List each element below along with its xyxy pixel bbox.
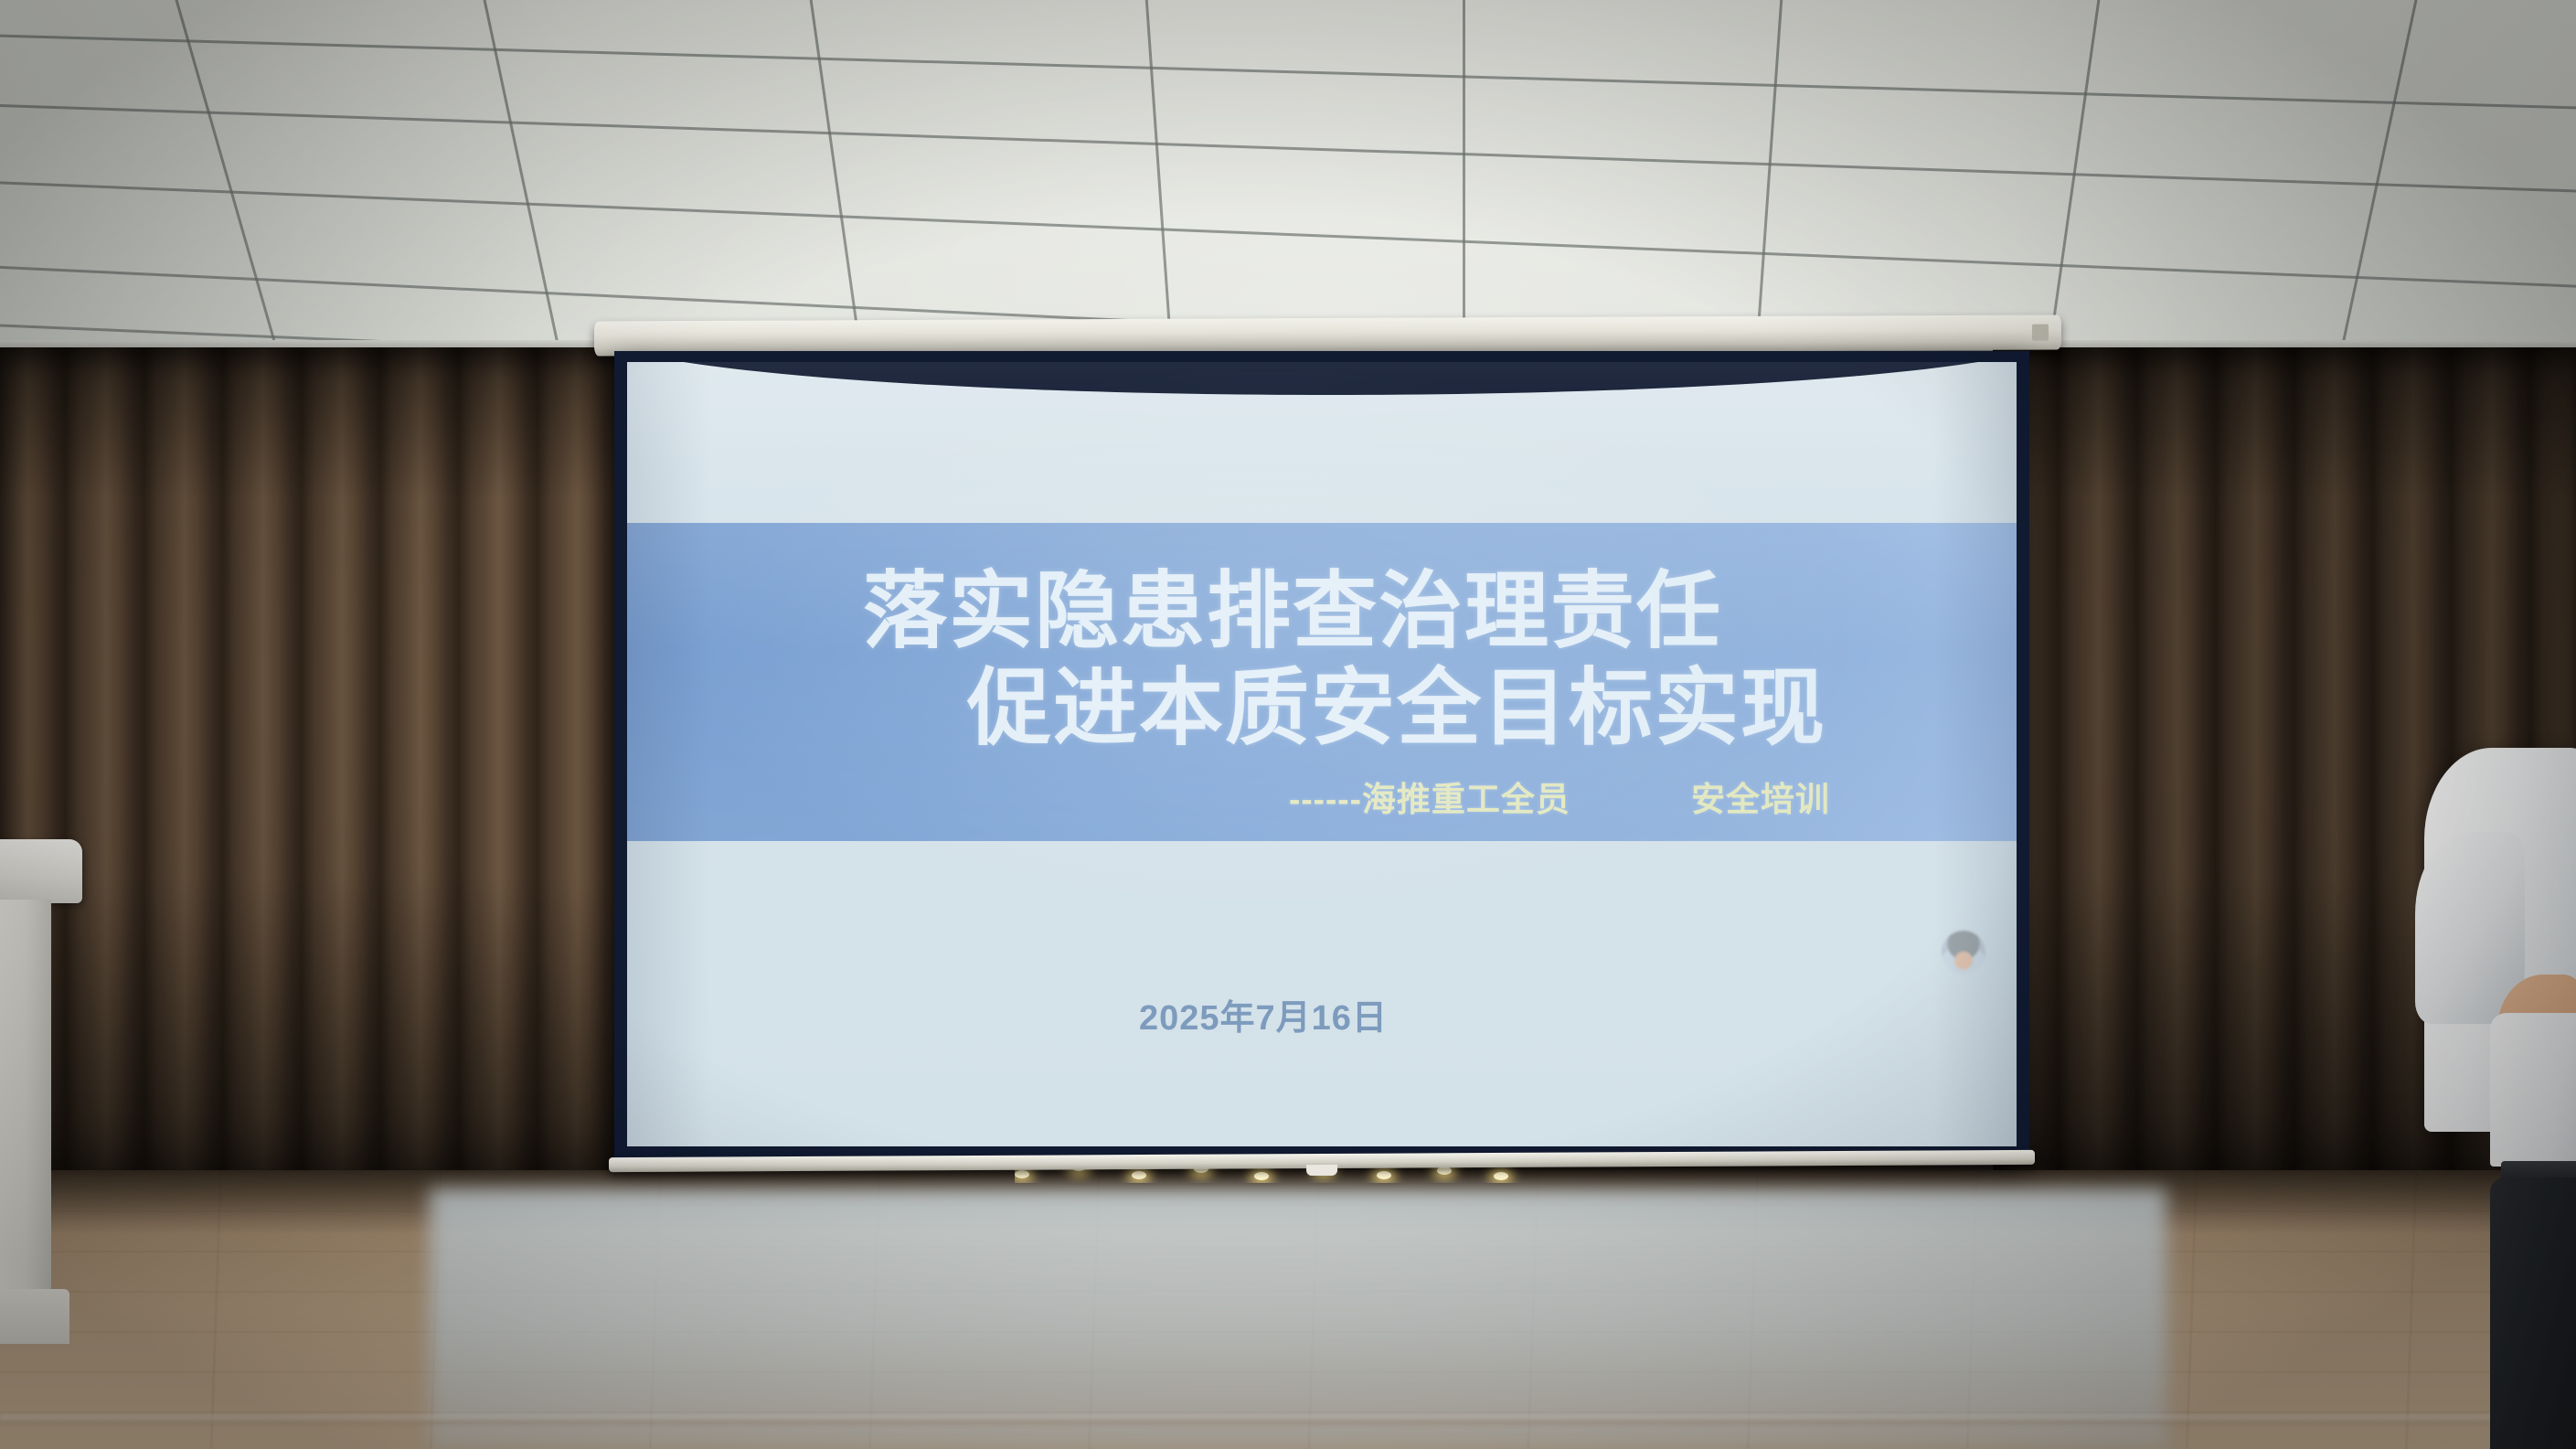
slide-date: 2025年7月16日 (1139, 989, 1388, 1039)
housing-endcap (2032, 325, 2049, 341)
projector-screen-housing[interactable] (594, 314, 2061, 356)
projector-light-spill (430, 1188, 2166, 1449)
slide-subtitle-right: 安全培训 (1691, 772, 1830, 821)
ceiling (0, 0, 2576, 366)
curtain-left (0, 347, 640, 1198)
screen-pull-knob[interactable] (1306, 1165, 1337, 1176)
ceiling-grid-line (1463, 0, 1465, 366)
lectern-body (0, 900, 51, 1293)
slide-subtitle-left: ------海推重工全员 (1289, 772, 1570, 821)
conference-room-photo: 落实隐患排查治理责任 促进本质安全目标实现 ------海推重工全员 安全培训 … (0, 0, 2576, 1449)
attendee-pants (2490, 1177, 2576, 1449)
projector-screen: 落实隐患排查治理责任 促进本质安全目标实现 ------海推重工全员 安全培训 … (614, 351, 2029, 1159)
slide-subtitle-row: ------海推重工全员 安全培训 (1289, 772, 1830, 821)
lectern-base (0, 1289, 69, 1344)
ceiling-shading (0, 0, 2576, 366)
slide-title-line-2: 促进本质安全目标实现 (967, 640, 1826, 762)
lectern (0, 839, 84, 1351)
attendee-shirt-lower (2490, 1013, 2576, 1167)
slide-title-band: 落实隐患排查治理责任 促进本质安全目标实现 ------海推重工全员 安全培训 (627, 523, 2017, 841)
presenter-avatar-icon (1942, 931, 1985, 975)
floor-highlight-line (0, 1415, 2576, 1424)
screen-top-curve (627, 362, 2017, 395)
slide-surface: 落实隐患排查治理责任 促进本质安全目标实现 ------海推重工全员 安全培训 … (627, 362, 2017, 1146)
standing-attendee (2413, 748, 2576, 1449)
lectern-top (0, 839, 82, 903)
